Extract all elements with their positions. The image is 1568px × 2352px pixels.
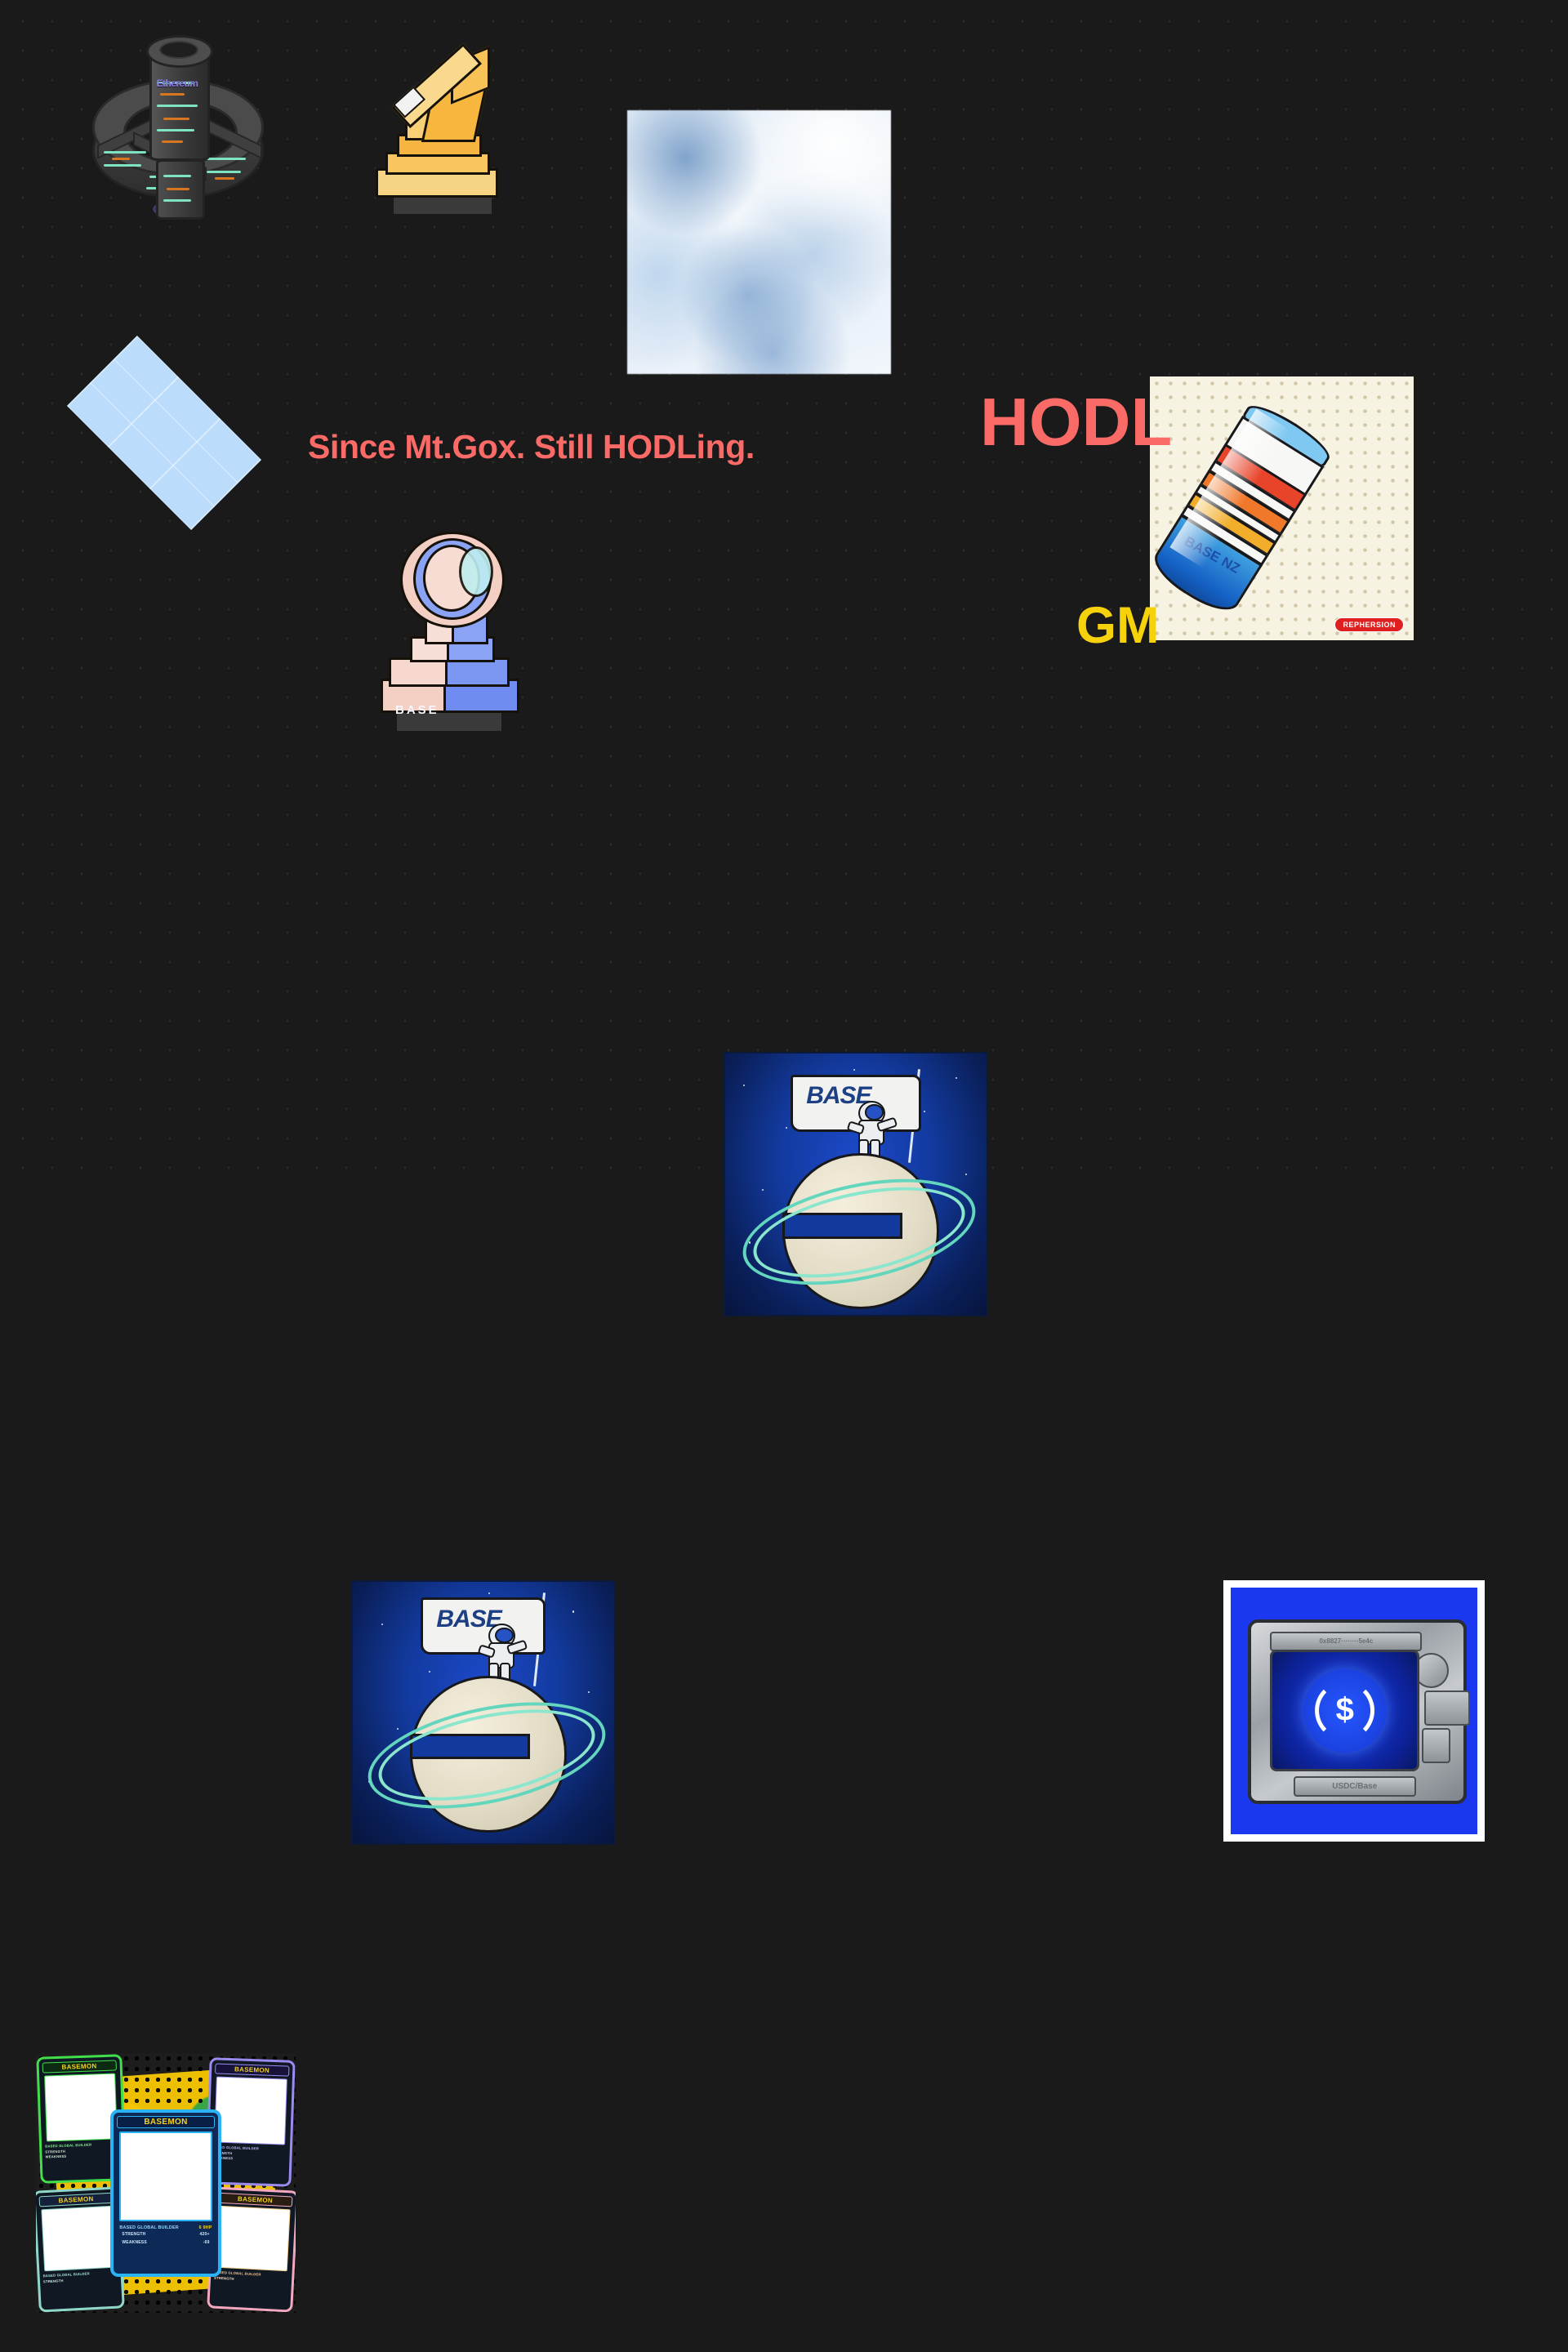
basemon-card-hp: 6 9HP (199, 2225, 212, 2231)
ethereum-column-cap-inner (159, 41, 198, 59)
usdc-side-button[interactable] (1424, 1690, 1470, 1726)
basemon-stat-label: STRENGTH (122, 2232, 145, 2238)
dollar-symbol: $ (1336, 1691, 1354, 1728)
isometric-diamond (66, 336, 261, 530)
usdc-side-slot (1422, 1728, 1450, 1763)
basemon-card-art (214, 2076, 287, 2145)
basemon-card-art (44, 2074, 117, 2142)
tile-basemon-cards[interactable]: BASEMON BASED GLOBAL BUILDER STRENGTH WE… (36, 2053, 296, 2313)
basemon-card-title: BASEMON (117, 2116, 214, 2128)
basemon-card[interactable]: BASEMON BASED GLOBAL BUILDER 6 9HP STREN… (114, 2113, 217, 2274)
caption-gm: GM (1076, 600, 1159, 652)
basemon-card-title: BASEMON (215, 2063, 289, 2076)
usdc-screen: $ (1270, 1650, 1419, 1772)
usdc-hardware-body: 0x8827········5e4c $ USDC/Base (1248, 1619, 1467, 1803)
tile-base-planet-right[interactable]: BASE (724, 1052, 988, 1316)
basemon-card-title: BASEMON (39, 2192, 114, 2207)
basemon-stat-label: WEAKNESS (122, 2240, 147, 2247)
tile-pastel-sculpture[interactable]: BASE (377, 527, 555, 759)
ethereum-label: Ethereum (148, 78, 207, 89)
basemon-card-art (42, 2205, 115, 2271)
tile-ethereum-sculpture[interactable]: Ethereum (78, 29, 282, 225)
caption-hodl: HODL (980, 388, 1172, 456)
basemon-card[interactable]: BASEMON BASED GLOBAL BUILDER STRENGTH (210, 2189, 296, 2310)
usdc-blue-backdrop: 0x8827········5e4c $ USDC/Base (1231, 1588, 1477, 1834)
basemon-card-art (216, 2205, 290, 2271)
basemon-stat-value: 420+ (200, 2232, 210, 2238)
ethereum-lower-column (156, 159, 205, 220)
caption-mtgox: Since Mt.Gox. Still HODLing. (308, 428, 755, 466)
tile-usdc-device[interactable]: 0x8827········5e4c $ USDC/Base (1223, 1580, 1485, 1842)
basemon-card-subtitle: BASED GLOBAL BUILDER (119, 2225, 178, 2231)
basemon-card[interactable]: BASEMON BASED GLOBAL BUILDER STRENGTH WE… (39, 2057, 124, 2182)
basemon-card-title: BASEMON (42, 2060, 117, 2074)
basemon-card-title: BASEMON (218, 2192, 292, 2207)
rephersion-badge: REPHERSION (1334, 617, 1404, 632)
tile-base-nz-tube[interactable]: BASE NZ REPHERSION (1150, 376, 1414, 640)
usdc-address-strip: 0x8827········5e4c (1270, 1632, 1422, 1651)
basemon-stat-value: -69 (203, 2240, 210, 2247)
basemon-card-art (119, 2131, 212, 2221)
usdc-label-strip: USDC/Base (1294, 1776, 1415, 1797)
pastel-sculpture-label: BASE (395, 703, 477, 717)
basemon-card[interactable]: BASEMON BASED GLOBAL BUILDER STRENGTH WE… (207, 2060, 292, 2185)
tile-lightning-sculpture[interactable] (376, 18, 551, 237)
tile-base-planet-left[interactable]: BASE (351, 1580, 616, 1845)
tile-isometric-platform[interactable] (39, 359, 288, 506)
usdc-coin: $ (1303, 1668, 1387, 1752)
tile-cloud-photo[interactable] (627, 110, 891, 374)
basemon-card[interactable]: BASEMON BASED GLOBAL BUILDER STRENGTH (36, 2189, 122, 2310)
